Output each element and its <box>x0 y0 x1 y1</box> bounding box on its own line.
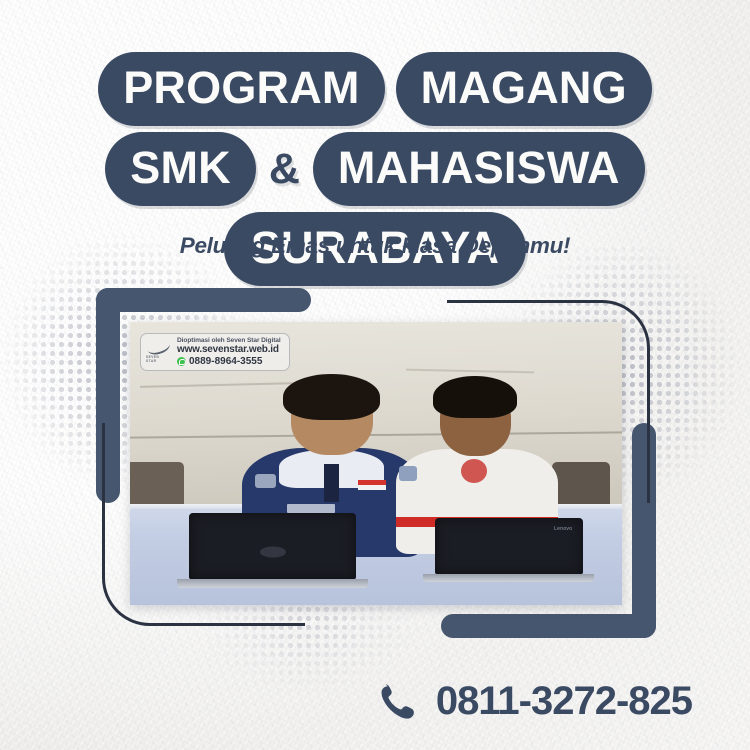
student-left-hair <box>283 374 380 420</box>
student-left-tie <box>324 464 339 503</box>
poster-canvas: PROGRAM MAGANG SMK & MAHASISWA SURABAYA … <box>0 0 750 750</box>
wall-crack-right <box>406 369 534 374</box>
laptop-left-base <box>177 579 368 588</box>
phone-handset-icon <box>374 680 416 722</box>
headline-pill-mahasiswa: MAHASISWA <box>313 132 645 206</box>
laptop-right-brand-label: Lenovo <box>554 526 572 532</box>
headline-pill-magang: MAGANG <box>396 52 652 126</box>
student-right-hair <box>433 376 517 418</box>
headline-pill-smk: SMK <box>105 132 256 206</box>
headline-pill-program: PROGRAM <box>98 52 384 126</box>
watermark-line-website: www.sevenstar.web.id <box>177 344 281 355</box>
laptop-right-lid: Lenovo <box>435 518 583 574</box>
subtitle-tagline: Peluang Emas untuk Masa Depanmu! <box>0 233 750 259</box>
headline-line-1: PROGRAM MAGANG <box>0 52 750 126</box>
watermark-line-credit: Dioptimasi oleh Seven Star Digital <box>177 337 281 344</box>
laptop-left-logo <box>260 547 286 558</box>
whatsapp-icon <box>177 357 186 366</box>
watermark-text-group: Dioptimasi oleh Seven Star Digital www.s… <box>177 337 281 367</box>
student-left-school-badge <box>255 474 276 488</box>
contact-phone-number[interactable]: 0811-3272-825 <box>436 681 692 721</box>
photo-scene: Lenovo SEVEN STAR Dioptimasi oleh Seven … <box>130 322 622 605</box>
watermark-line-phone: 0889-8964-3555 <box>177 356 281 367</box>
photo-frame-group: Lenovo SEVEN STAR Dioptimasi oleh Seven … <box>96 288 656 638</box>
watermark-badge: SEVEN STAR Dioptimasi oleh Seven Star Di… <box>140 333 290 371</box>
sevenstar-logo-icon: SEVEN STAR <box>146 340 171 363</box>
student-left-nametag <box>287 504 336 513</box>
headline-line-2: SMK & MAHASISWA <box>0 132 750 206</box>
watermark-phone-text: 0889-8964-3555 <box>189 356 262 367</box>
student-left-flag-patch <box>358 480 386 491</box>
student-right-school-badge <box>399 466 417 481</box>
frame-bracket-bottom-right-horizontal <box>441 614 656 638</box>
frame-bracket-top-left-horizontal <box>96 288 311 312</box>
headline-ampersand: & <box>267 148 302 191</box>
laptop-left <box>189 513 356 588</box>
laptop-right: Lenovo <box>435 518 583 582</box>
laptop-left-lid <box>189 513 356 579</box>
photo-internship-students: Lenovo SEVEN STAR Dioptimasi oleh Seven … <box>130 322 622 605</box>
sevenstar-logo-label: SEVEN STAR <box>146 355 171 363</box>
laptop-right-base <box>423 574 594 582</box>
student-right-chest-logo <box>461 459 487 483</box>
contact-row[interactable]: 0811-3272-825 <box>0 680 750 722</box>
